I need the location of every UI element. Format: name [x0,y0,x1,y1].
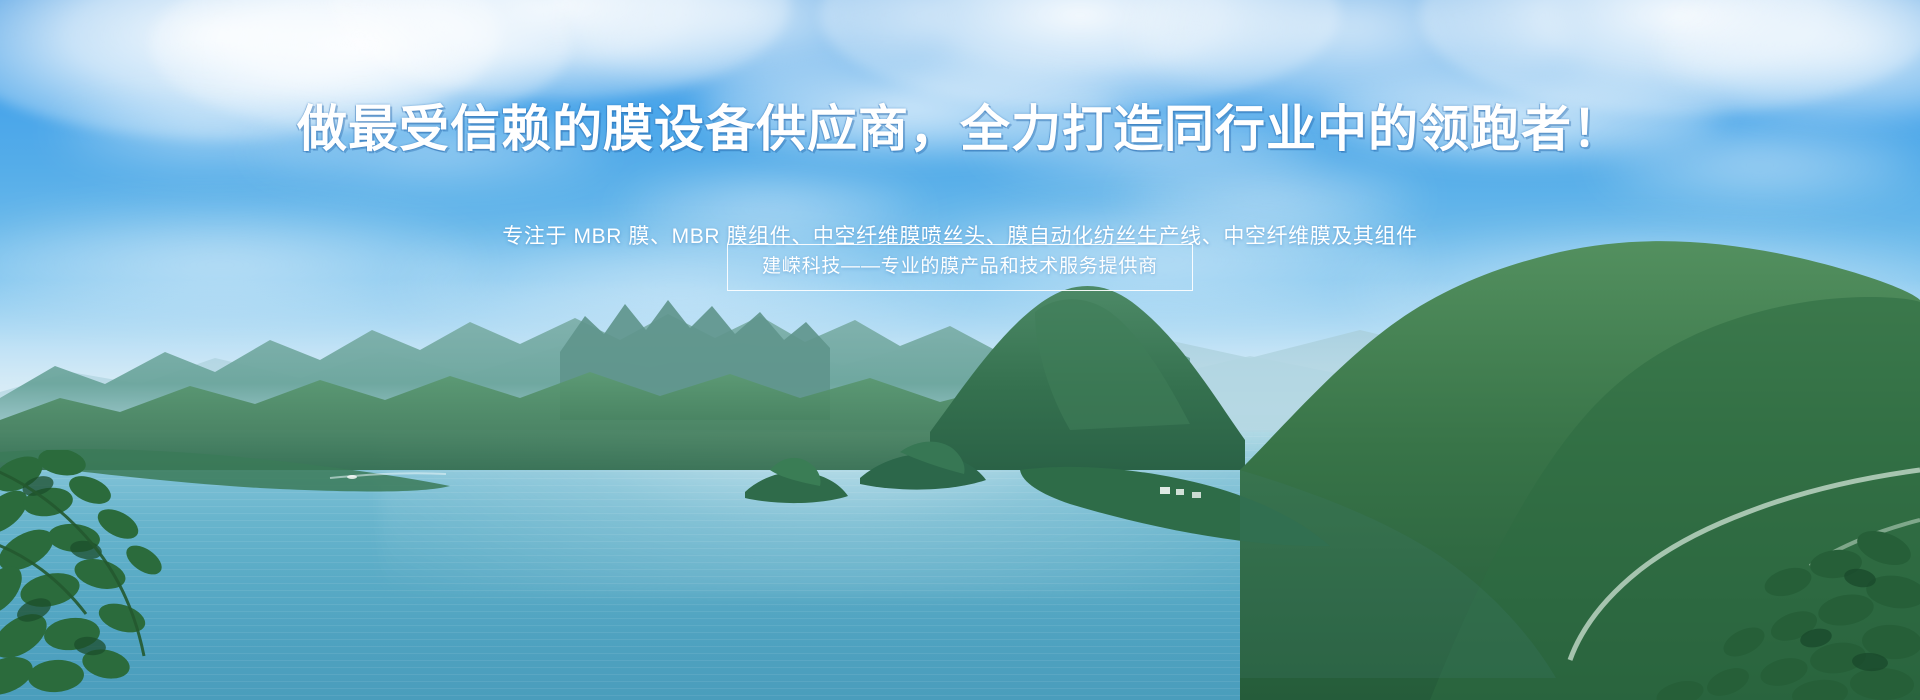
banner-headline: 做最受信赖的膜设备供应商，全力打造同行业中的领跑者！ [0,100,1920,158]
banner-text-overlay: 做最受信赖的膜设备供应商，全力打造同行业中的领跑者！ 专注于 MBR 膜、MBR… [0,0,1920,700]
banner-tagline-wrapper: 建嵘科技——专业的膜产品和技术服务提供商 [0,244,1920,291]
hero-banner: 做最受信赖的膜设备供应商，全力打造同行业中的领跑者！ 专注于 MBR 膜、MBR… [0,0,1920,700]
banner-tagline: 建嵘科技——专业的膜产品和技术服务提供商 [727,244,1193,291]
